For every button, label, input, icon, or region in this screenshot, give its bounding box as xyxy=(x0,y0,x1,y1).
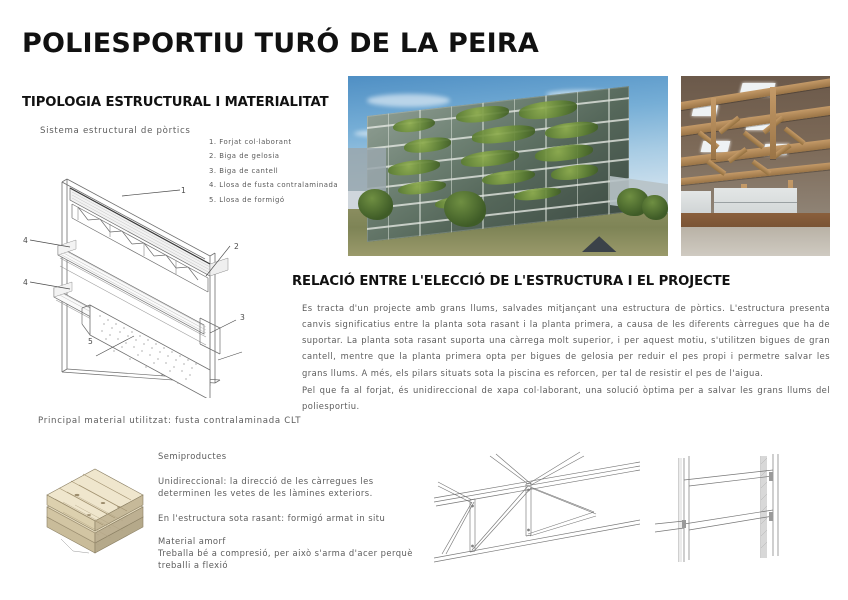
relacio-body-text: Es tracta d'un projecte amb grans llums,… xyxy=(302,300,830,414)
callout-1: 1 xyxy=(181,186,186,195)
semiproductes-sota-rasant: En l'estructura sota rasant: formigó arm… xyxy=(158,512,423,525)
section-heading-relacio: RELACIÓ ENTRE L'ELECCIÓ DE L'ESTRUCTURA … xyxy=(292,274,730,289)
truss-joint-axonometric-detail xyxy=(434,450,640,590)
section-heading-tipologia: TIPOLOGIA ESTRUCTURAL I MATERIALITAT xyxy=(22,95,328,110)
column-beam-connection-detail xyxy=(655,450,835,590)
caption-principal-material: Principal material utilitzat: fusta cont… xyxy=(38,415,301,427)
clt-panel-illustration xyxy=(33,443,157,563)
poster-canvas: POLIESPORTIU TURÓ DE LA PEIRA TIPOLOGIA … xyxy=(0,0,848,600)
semiproductes-text-block: Semiproductes Unidireccional: la direcci… xyxy=(158,450,423,572)
paragraph-1: Es tracta d'un projecte amb grans llums,… xyxy=(302,300,830,381)
semiproductes-unidireccional: Unidireccional: la direcció de les càrre… xyxy=(158,475,423,500)
material-amorf-body: Treballa bé a compresió, per això s'arma… xyxy=(158,548,423,572)
paragraph-2: Pel que fa al forjat, és unidireccional … xyxy=(302,382,830,414)
legend-item: 1. Forjat col·laborant xyxy=(209,138,338,146)
semiproductes-title: Semiproductes xyxy=(158,450,423,463)
building-green-facade-photo xyxy=(348,76,668,256)
callout-4-upper: 4 xyxy=(23,236,28,245)
callout-4-lower: 4 xyxy=(23,278,28,287)
material-amorf-title: Material amorf xyxy=(158,536,423,548)
timber-truss-interior-photo xyxy=(681,76,830,256)
caption-sistema-portics: Sistema estructural de pòrtics xyxy=(40,125,191,137)
callout-2: 2 xyxy=(234,242,239,251)
page-title: POLIESPORTIU TURÓ DE LA PEIRA xyxy=(22,28,539,59)
callout-5: 5 xyxy=(88,337,93,346)
structural-frame-axonometric-drawing xyxy=(14,148,272,398)
callout-3: 3 xyxy=(240,313,245,322)
